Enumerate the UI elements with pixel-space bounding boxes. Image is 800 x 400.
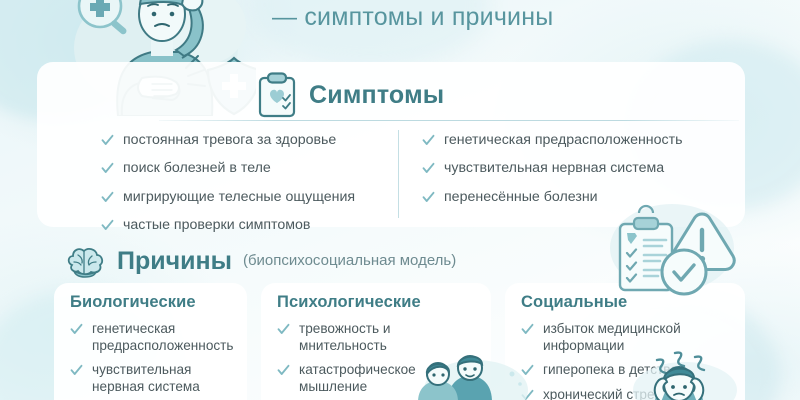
list-item-label: чувствительная нервная система	[444, 160, 664, 177]
symptoms-title: Симптомы	[309, 81, 444, 110]
infographic-page: — симптомы и причины	[0, 0, 800, 400]
check-icon	[277, 364, 290, 377]
list-item: гиперопека в детстве	[521, 362, 729, 379]
list-item-label: чувствительная нервная система	[92, 362, 231, 395]
check-icon	[521, 364, 534, 377]
page-subtitle: — симптомы и причины	[272, 3, 553, 32]
check-icon	[101, 162, 114, 175]
check-icon	[70, 364, 83, 377]
check-icon	[521, 323, 534, 336]
list-item: хронический стресс	[521, 387, 729, 400]
check-icon	[422, 191, 435, 204]
list-item: перенесённые болезни	[422, 189, 742, 206]
list-item: чувствительная нервная система	[70, 362, 231, 395]
check-icon	[101, 191, 114, 204]
list-item-label: хронический стресс	[543, 387, 668, 400]
list-item-label: постоянная тревога за здоровье	[123, 132, 336, 149]
clipboard-heart-icon	[257, 72, 297, 118]
check-icon	[70, 323, 83, 336]
list-item: катастрофическое мышление	[277, 362, 475, 395]
list-item: поиск болезней в теле	[101, 160, 391, 177]
causes-header: Причины (биопсихосоциальная модель)	[64, 244, 456, 278]
symptoms-right-column: генетическая предрасположенность чувстви…	[422, 132, 742, 217]
check-icon	[277, 323, 290, 336]
causes-subtitle: (биопсихосоциальная модель)	[243, 252, 456, 271]
list-item: мигрирующие телесные ощущения	[101, 189, 391, 206]
list-item-label: перенесённые болезни	[444, 189, 598, 206]
check-icon	[101, 134, 114, 147]
cause-card-biological: Биологические генетическая предрасположе…	[54, 283, 247, 400]
list-item-label: избыток медицинской информации	[543, 321, 729, 354]
cause-card-social: Социальные избыток медицинской информаци…	[505, 283, 745, 400]
symptoms-card: Симптомы постоянная тревога за здоровье …	[37, 62, 745, 227]
causes-title: Причины	[117, 247, 232, 276]
title-row: — симптомы и причины	[0, 0, 800, 46]
list-item-label: генетическая предрасположенность	[92, 321, 233, 354]
check-icon	[101, 219, 114, 232]
cause-card-heading: Психологические	[277, 293, 475, 312]
cause-card-heading: Социальные	[521, 293, 729, 312]
symptoms-header: Симптомы	[257, 72, 444, 118]
list-item: постоянная тревога за здоровье	[101, 132, 391, 149]
list-item: чувствительная нервная система	[422, 160, 742, 177]
check-icon	[422, 162, 435, 175]
list-item-label: мигрирующие телесные ощущения	[123, 189, 355, 206]
list-item: генетическая предрасположенность	[70, 321, 231, 354]
section-divider	[159, 120, 739, 121]
cause-card-heading: Биологические	[70, 293, 231, 312]
list-item-label: гиперопека в детстве	[543, 362, 678, 379]
list-item-label: поиск болезней в теле	[123, 160, 271, 177]
list-item: тревожность и мнительность	[277, 321, 475, 354]
list-item: избыток медицинской информации	[521, 321, 729, 354]
list-item-label: частые проверки симптомов	[123, 217, 310, 234]
list-item: частые проверки симптомов	[101, 217, 391, 234]
brain-icon	[64, 244, 106, 278]
list-item-label: тревожность и мнительность	[299, 321, 475, 354]
check-icon	[422, 134, 435, 147]
list-item-label: генетическая предрасположенность	[444, 132, 683, 149]
check-icon	[521, 389, 534, 400]
column-divider	[398, 130, 399, 218]
list-item-label: катастрофическое мышление	[299, 362, 475, 395]
list-item: генетическая предрасположенность	[422, 132, 742, 149]
cause-card-psychological: Психологические тревожность и мнительнос…	[261, 283, 491, 400]
symptoms-left-column: постоянная тревога за здоровье поиск бол…	[101, 132, 391, 245]
